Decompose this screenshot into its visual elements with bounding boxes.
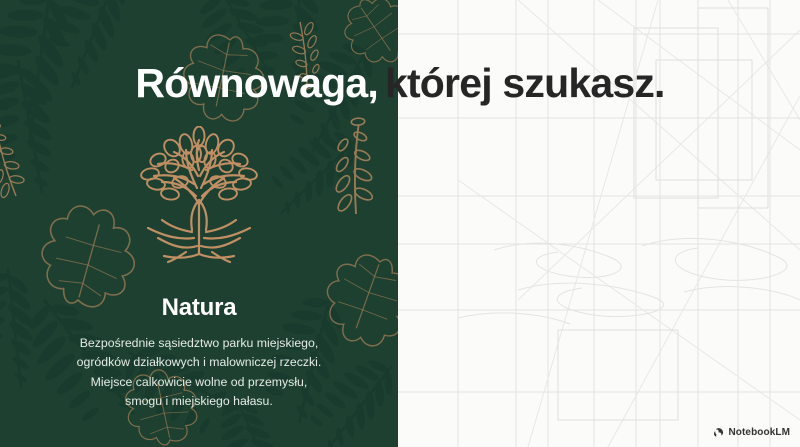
- notebooklm-label: NotebookLM: [728, 427, 790, 438]
- notebooklm-spark-icon: [713, 427, 724, 438]
- nature-body-line: Bezpośrednie sąsiedztwo parku miejskiego…: [44, 334, 354, 353]
- page-title: Równowaga, której szukasz.: [0, 55, 800, 111]
- nature-body: Bezpośrednie sąsiedztwo parku miejskiego…: [44, 334, 354, 412]
- slide-root: Natura Bezpośrednie sąsiedztwo parku mie…: [0, 0, 800, 447]
- nature-column: Natura Bezpośrednie sąsiedztwo parku mie…: [0, 120, 398, 412]
- nature-body-line: Miejsce calkowicie wolne od przemysłu,: [44, 373, 354, 392]
- page-title-part-dark: której szukasz.: [385, 60, 665, 107]
- tree-of-life-icon: [134, 120, 264, 270]
- nature-body-line: smogu i miejskiego hałasu.: [44, 392, 354, 411]
- page-title-part-light: Równowaga,: [135, 60, 378, 107]
- city-column: Miasto Nowoczesna infrastruktura i wygod…: [796, 120, 800, 392]
- nature-title: Natura: [162, 294, 237, 322]
- notebooklm-watermark: NotebookLM: [713, 427, 790, 438]
- nature-body-line: ogródków działkowych i malowniczej rzecz…: [44, 353, 354, 372]
